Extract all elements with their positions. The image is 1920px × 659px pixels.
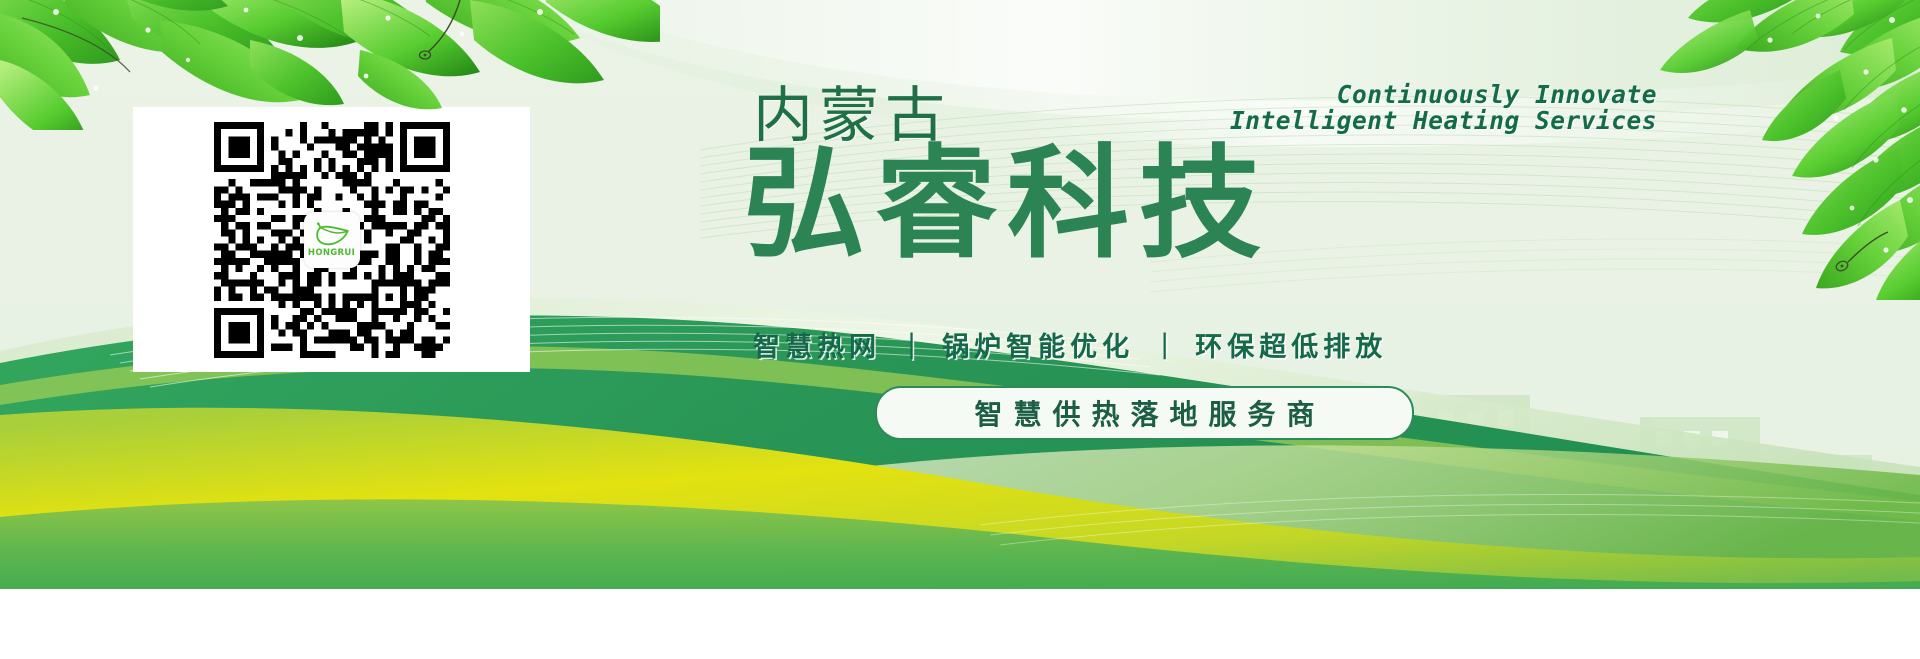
logo-brand-text: HONGRUI xyxy=(308,249,355,258)
subtitle-separator-1: | xyxy=(881,329,942,360)
subtitle-separator-2: | xyxy=(1134,329,1195,360)
qr-center-logo: HONGRUI xyxy=(304,212,360,268)
leaf-icon xyxy=(312,222,352,248)
subtitle-item-2: 锅炉智能优化 xyxy=(942,325,1134,364)
subtitle-item-1: 智慧热网 xyxy=(753,325,881,364)
english-tagline-line2: Intelligent Heating Services xyxy=(957,108,1657,134)
english-tagline-line1: Continuously Innovate xyxy=(1337,80,1657,109)
subtitle-feature-row: 智慧热网 | 锅炉智能优化 | 环保超低排放 xyxy=(753,325,1387,364)
company-title: 弘睿科技 xyxy=(743,143,1271,265)
tendril-curl-icon xyxy=(1820,228,1890,278)
english-tagline: Continuously Innovate Intelligent Heatin… xyxy=(957,82,1657,135)
headline-region: 内蒙古 Continuously Innovate Intelligent He… xyxy=(735,70,1735,470)
promotional-banner: HONGRUI 内蒙古 Continuously Innovate Intell… xyxy=(0,0,1920,589)
qr-code-block[interactable]: HONGRUI xyxy=(133,107,530,372)
subtitle-item-3: 环保超低排放 xyxy=(1195,325,1387,364)
service-badge: 智慧供热落地服务商 xyxy=(875,386,1414,440)
stem-flourish-icon xyxy=(400,0,490,70)
